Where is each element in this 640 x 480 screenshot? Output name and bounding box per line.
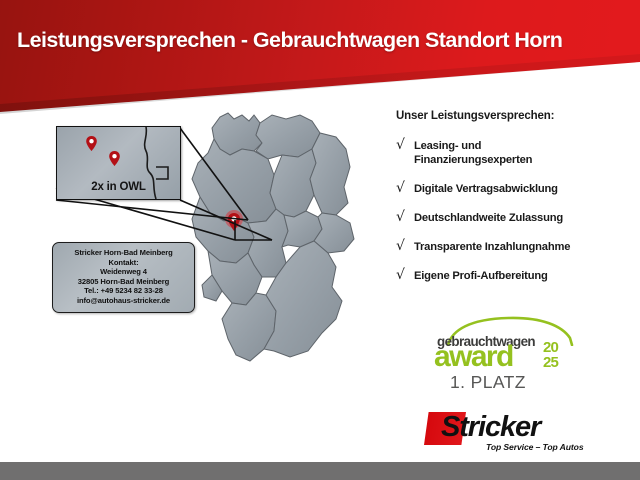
callout-pin-1: [86, 136, 97, 151]
owl-callout-label: 2x in OWL: [57, 181, 180, 193]
check-icon: √: [396, 240, 414, 253]
callout-pin-2: [109, 151, 120, 166]
address-card: Stricker Horn-Bad Meinberg Kontakt: Weid…: [52, 242, 195, 313]
footer-bar: [0, 462, 640, 480]
promise-item: √ Transparente Inzahlungnahme: [396, 240, 632, 254]
address-phone[interactable]: Tel.: +49 5234 82 33-28: [57, 286, 190, 296]
service-promise-heading: Unser Leistungsversprechen:: [396, 110, 632, 122]
award-word-award: award: [434, 342, 513, 372]
promise-label: Transparente Inzahlungnahme: [414, 240, 570, 254]
header-banner: [0, 0, 640, 112]
address-street: Weidenweg 4: [57, 267, 190, 277]
check-icon: √: [396, 139, 414, 152]
promise-item: √ Deutschlandweite Zulassung: [396, 211, 632, 225]
award-rank: 1. PLATZ: [450, 372, 526, 393]
promise-label: Digitale Vertragsabwicklung: [414, 182, 558, 196]
promise-label: Eigene Profi-Aufbereitung: [414, 269, 548, 283]
address-company: Stricker Horn-Bad Meinberg: [57, 248, 190, 258]
address-city: 32805 Horn-Bad Meinberg: [57, 277, 190, 287]
page-title: Leistungsversprechen - Gebrauchtwagen St…: [17, 28, 629, 53]
promise-label-line2: Finanzierungsexperten: [414, 153, 532, 167]
slide-canvas: Leistungsversprechen - Gebrauchtwagen St…: [0, 0, 640, 480]
promise-label: Leasing- und: [414, 139, 532, 153]
award-year-top: 20: [543, 340, 558, 355]
stricker-logo-name: Stricker: [441, 411, 540, 444]
promise-item: √ Digitale Vertragsabwicklung: [396, 182, 632, 196]
address-contact-label: Kontakt:: [57, 258, 190, 268]
promise-label: Deutschlandweite Zulassung: [414, 211, 563, 225]
check-icon: √: [396, 211, 414, 224]
address-email[interactable]: info@autohaus-stricker.de: [57, 296, 190, 306]
service-promise-list: Unser Leistungsversprechen: √ Leasing- u…: [396, 110, 632, 298]
award-year-bottom: 25: [543, 355, 558, 370]
check-icon: √: [396, 269, 414, 282]
award-year: 20 25: [543, 340, 558, 370]
owl-callout-box: 2x in OWL: [56, 126, 181, 200]
stricker-logo: Stricker Top Service – Top Autos: [424, 409, 596, 457]
check-icon: √: [396, 182, 414, 195]
award-badge: gebrauchtwagen award 20 25 1. PLATZ: [424, 316, 584, 394]
promise-item: √ Leasing- und Finanzierungsexperten: [396, 139, 632, 167]
stricker-logo-tagline: Top Service – Top Autos: [486, 442, 584, 452]
promise-item: √ Eigene Profi-Aufbereitung: [396, 269, 632, 283]
